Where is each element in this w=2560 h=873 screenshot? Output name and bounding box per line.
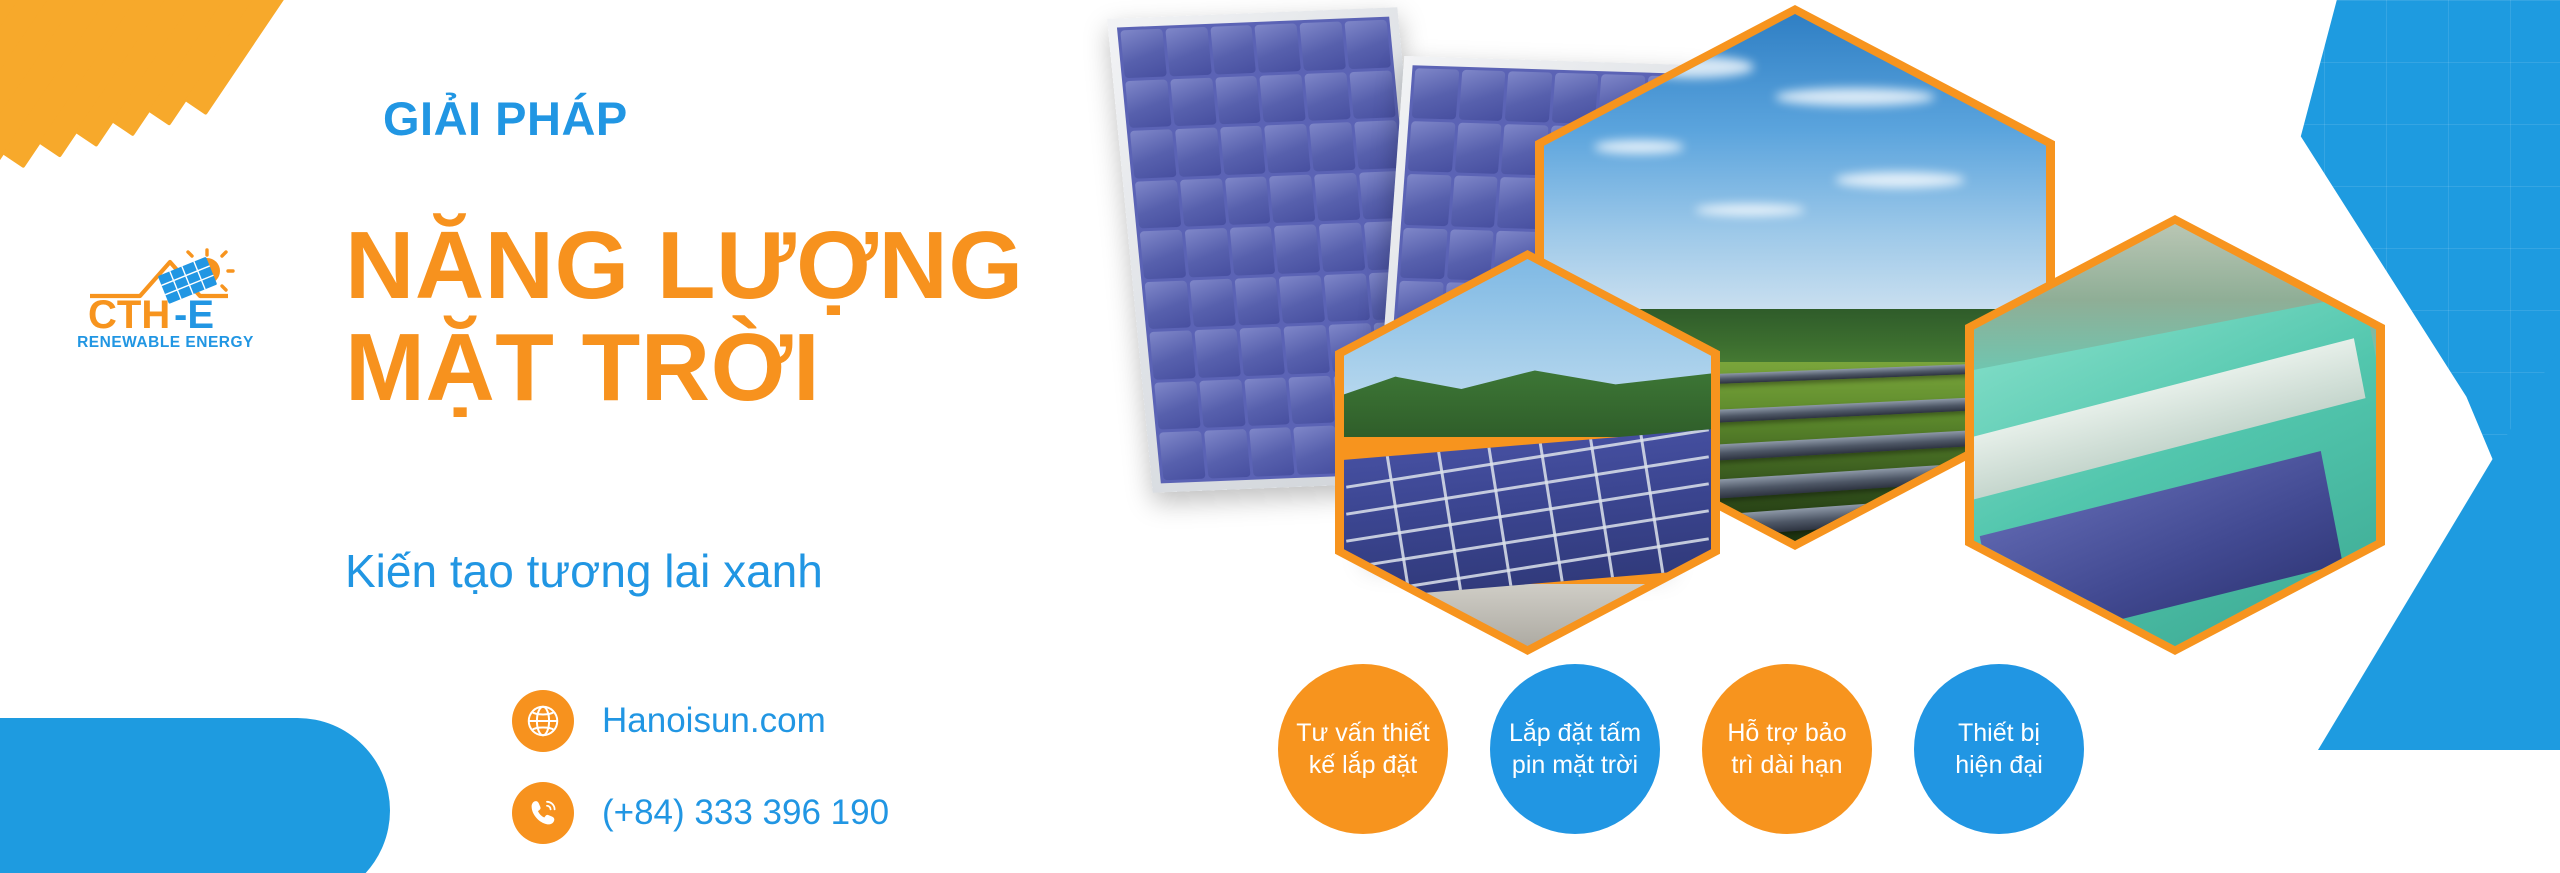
contact-list: Hanoisun.com (+84) 333 396 190	[512, 690, 889, 844]
hero-tagline: Kiến tạo tương lai xanh	[345, 548, 823, 594]
page-title: NĂNG LƯỢNG MẶT TRỜI	[345, 215, 1024, 419]
service-badge-installation[interactable]: Lắp đặt tấm pin mặt trời	[1490, 664, 1660, 834]
solar-energy-banner: CTH -E RENEWABLE ENERGY GIẢI PHÁP NĂNG L…	[0, 0, 2560, 873]
headline-line-2: MẶT TRỜI	[345, 317, 1024, 419]
service-badge-line-1: Hỗ trợ bảo	[1727, 719, 1846, 747]
company-logo[interactable]: CTH -E RENEWABLE ENERGY	[68, 248, 263, 352]
phone-text: (+84) 333 396 190	[602, 793, 889, 833]
headline-line-1: NĂNG LƯỢNG	[345, 215, 1024, 317]
contact-website[interactable]: Hanoisun.com	[512, 690, 889, 752]
contact-phone[interactable]: (+84) 333 396 190	[512, 782, 889, 844]
hexagon-rooftop-array-photo	[1335, 250, 1720, 655]
svg-text:-E: -E	[174, 293, 214, 332]
service-badge-line-2: hiện đại	[1955, 751, 2043, 779]
website-text: Hanoisun.com	[602, 701, 826, 741]
service-badge-line-2: trì dài hạn	[1731, 751, 1842, 779]
logo-tagline: RENEWABLE ENERGY	[68, 334, 263, 352]
phone-icon	[512, 782, 574, 844]
service-badge-consulting[interactable]: Tư vấn thiết kế lắp đặt	[1278, 664, 1448, 834]
service-badge-line-1: Thiết bị	[1958, 719, 2040, 747]
service-badge-list: Tư vấn thiết kế lắp đặt Lắp đặt tấm pin …	[1278, 664, 2084, 834]
hero-content: CTH -E RENEWABLE ENERGY GIẢI PHÁP NĂNG L…	[0, 0, 1150, 873]
service-badge-equipment[interactable]: Thiết bị hiện đại	[1914, 664, 2084, 834]
hero-kicker: GIẢI PHÁP	[383, 95, 628, 142]
service-badge-line-1: Lắp đặt tấm	[1509, 719, 1641, 747]
svg-text:CTH: CTH	[88, 293, 170, 332]
service-badge-line-1: Tư vấn thiết	[1296, 719, 1429, 747]
service-badge-line-2: pin mặt trời	[1512, 751, 1638, 779]
globe-icon	[512, 690, 574, 752]
hexagon-factory-roof-photo	[1965, 215, 2385, 655]
service-badge-line-2: kế lắp đặt	[1309, 751, 1417, 779]
service-badge-maintenance[interactable]: Hỗ trợ bảo trì dài hạn	[1702, 664, 1872, 834]
cth-e-logo-mark: CTH -E	[82, 248, 250, 332]
